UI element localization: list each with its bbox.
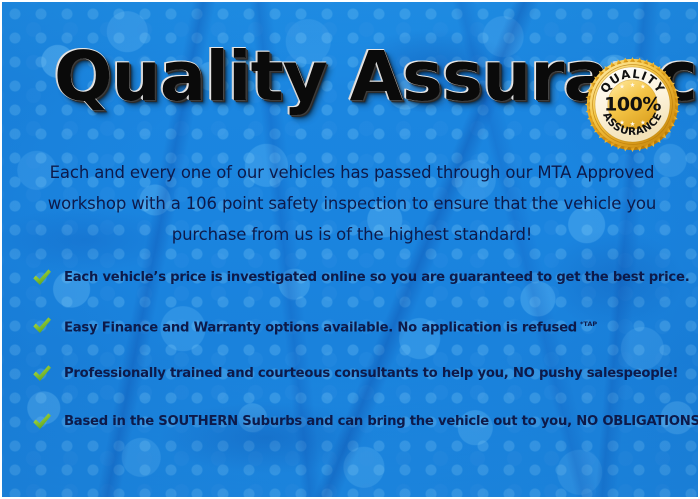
benefit-text-main: Based in the SOUTHERN Suburbs and can br… — [64, 414, 700, 429]
benefits-list: Each vehicle’s price is investigated onl… — [2, 254, 700, 446]
benefit-label: Easy Finance and Warranty options availa… — [64, 316, 597, 336]
benefit-footnote: *TAP — [580, 320, 597, 328]
benefit-label: Based in the SOUTHERN Suburbs and can br… — [64, 414, 700, 430]
green-check-icon — [31, 411, 53, 433]
list-item: Each vehicle’s price is investigated onl… — [2, 254, 700, 302]
green-check-icon — [31, 363, 53, 385]
svg-text:★: ★ — [640, 83, 646, 90]
green-check-icon — [31, 315, 53, 337]
svg-text:★: ★ — [619, 83, 625, 90]
svg-text:★: ★ — [640, 119, 646, 126]
benefit-label: Professionally trained and courteous con… — [64, 366, 678, 382]
green-check-icon — [31, 267, 53, 289]
page-title: Quality Assurance! — [54, 34, 584, 120]
benefit-text-main: Easy Finance and Warranty options availa… — [64, 320, 577, 335]
list-item: Easy Finance and Warranty options availa… — [2, 302, 700, 350]
list-item: Professionally trained and courteous con… — [2, 350, 700, 398]
svg-text:★: ★ — [630, 82, 636, 89]
benefit-text-main: Professionally trained and courteous con… — [64, 366, 678, 381]
svg-text:★: ★ — [630, 121, 636, 128]
benefit-text-main: Each vehicle’s price is investigated onl… — [64, 270, 689, 285]
benefit-label: Each vehicle’s price is investigated onl… — [64, 270, 689, 286]
seal-center-text: 100% — [604, 94, 661, 116]
intro-paragraph: Each and every one of our vehicles has p… — [28, 157, 676, 250]
svg-text:★: ★ — [619, 119, 625, 126]
header: Quality Assurance! — [2, 24, 700, 136]
quality-assurance-poster: Quality Assurance! — [0, 0, 700, 499]
list-item: Based in the SOUTHERN Suburbs and can br… — [2, 398, 700, 446]
quality-assurance-seal: QUALITY ASSURANCE ★ ★ ★ ★ ★ ★ 100% — [585, 57, 680, 152]
